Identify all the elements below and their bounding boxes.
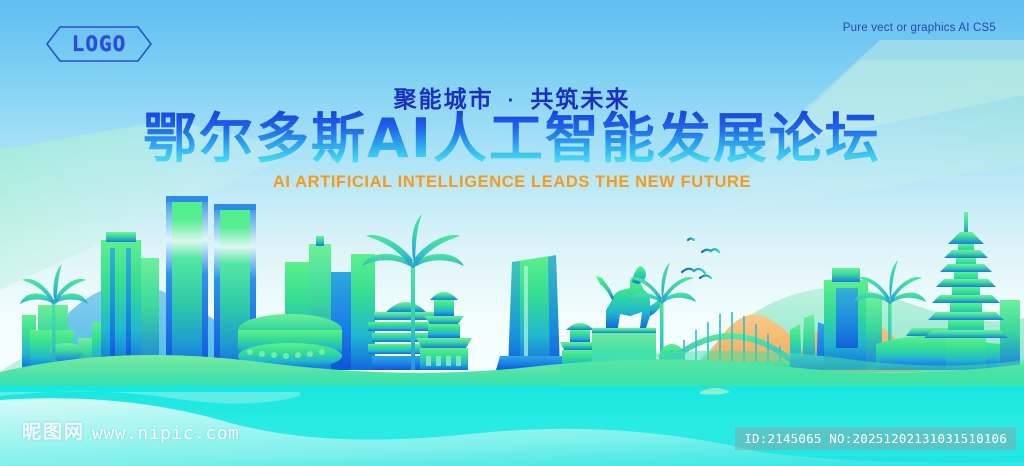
poster-canvas: LOGO Pure vect or graphics AI CS5 聚能城市·共… [0, 0, 1024, 466]
watermark: 昵图网 www.nipic.com [22, 417, 239, 444]
id-badge: ID:2145065 NO:20251202131031510106 [735, 427, 1016, 450]
corner-note: Pure vect or graphics AI CS5 [843, 22, 996, 34]
watermark-url: www.nipic.com [92, 423, 239, 444]
page-title: 鄂尔多斯AI人工智能发展论坛 [0, 107, 1024, 171]
logo-label: LOGO [72, 32, 127, 56]
scene-illustration [0, 0, 1024, 466]
english-tagline: AI ARTIFICIAL INTELLIGENCE LEADS THE NEW… [0, 173, 1024, 192]
watermark-cn: 昵图网 [22, 417, 85, 444]
stadium-dome [238, 314, 342, 369]
logo-badge[interactable]: LOGO [46, 26, 152, 62]
